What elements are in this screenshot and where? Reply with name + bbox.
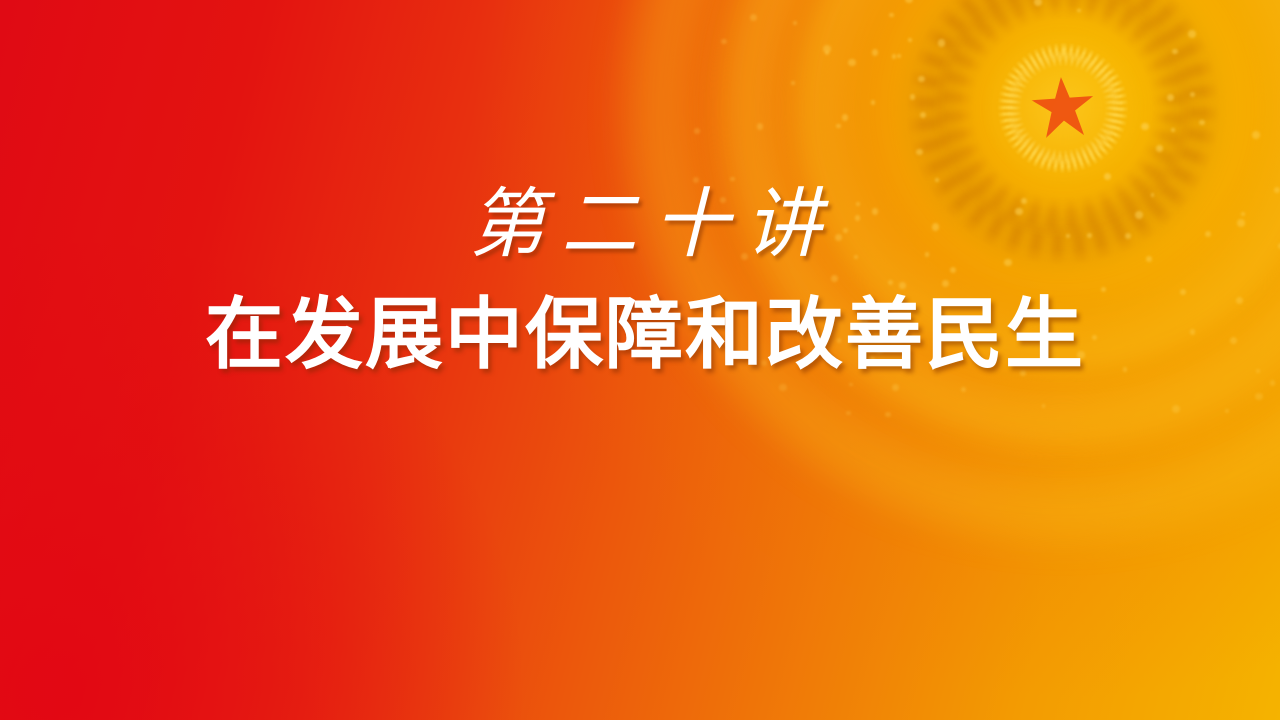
title-text-block: 第二十讲 在发展中保障和改善民生: [0, 186, 1280, 374]
page-title: 第二十讲: [0, 186, 1280, 262]
title-slide: 第二十讲 在发展中保障和改善民生: [0, 0, 1280, 720]
page-subtitle: 在发展中保障和改善民生: [0, 296, 1280, 374]
